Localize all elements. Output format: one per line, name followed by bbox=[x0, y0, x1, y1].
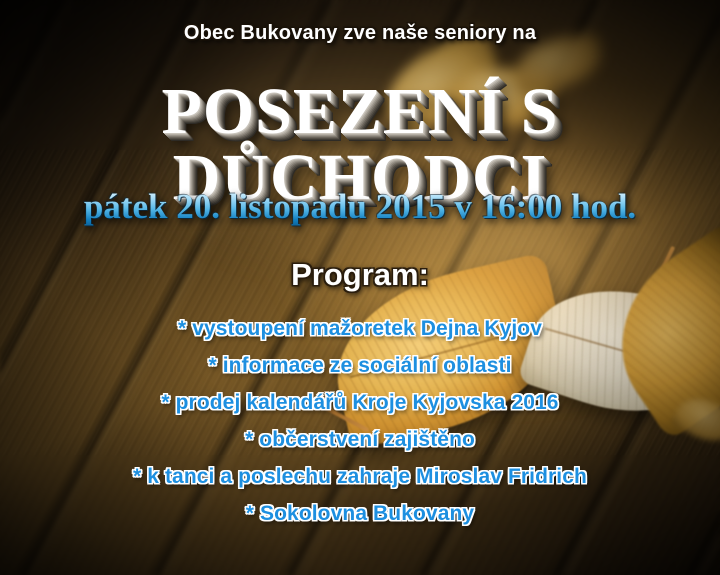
program-list: * vystoupení mažoretek Dejna Kyjov * inf… bbox=[0, 310, 720, 532]
program-item: * vystoupení mažoretek Dejna Kyjov bbox=[0, 310, 720, 347]
program-label: Program: bbox=[0, 257, 720, 293]
program-item: * informace ze sociální oblasti bbox=[0, 347, 720, 384]
poster-canvas: Obec Bukovany zve naše seniory na POSEZE… bbox=[0, 0, 720, 575]
program-item: * k tanci a poslechu zahraje Miroslav Fr… bbox=[0, 458, 720, 495]
program-item: * občerstvení zajištěno bbox=[0, 421, 720, 458]
poster-date-time: pátek 20. listopadu 2015 v 16:00 hod. bbox=[0, 187, 720, 227]
program-item: * Sokolovna Bukovany bbox=[0, 495, 720, 532]
poster-headline: Obec Bukovany zve naše seniory na bbox=[0, 22, 720, 45]
program-item: * prodej kalendářů Kroje Kyjovska 2016 bbox=[0, 384, 720, 421]
poster-text-layer: Obec Bukovany zve naše seniory na POSEZE… bbox=[0, 0, 720, 575]
